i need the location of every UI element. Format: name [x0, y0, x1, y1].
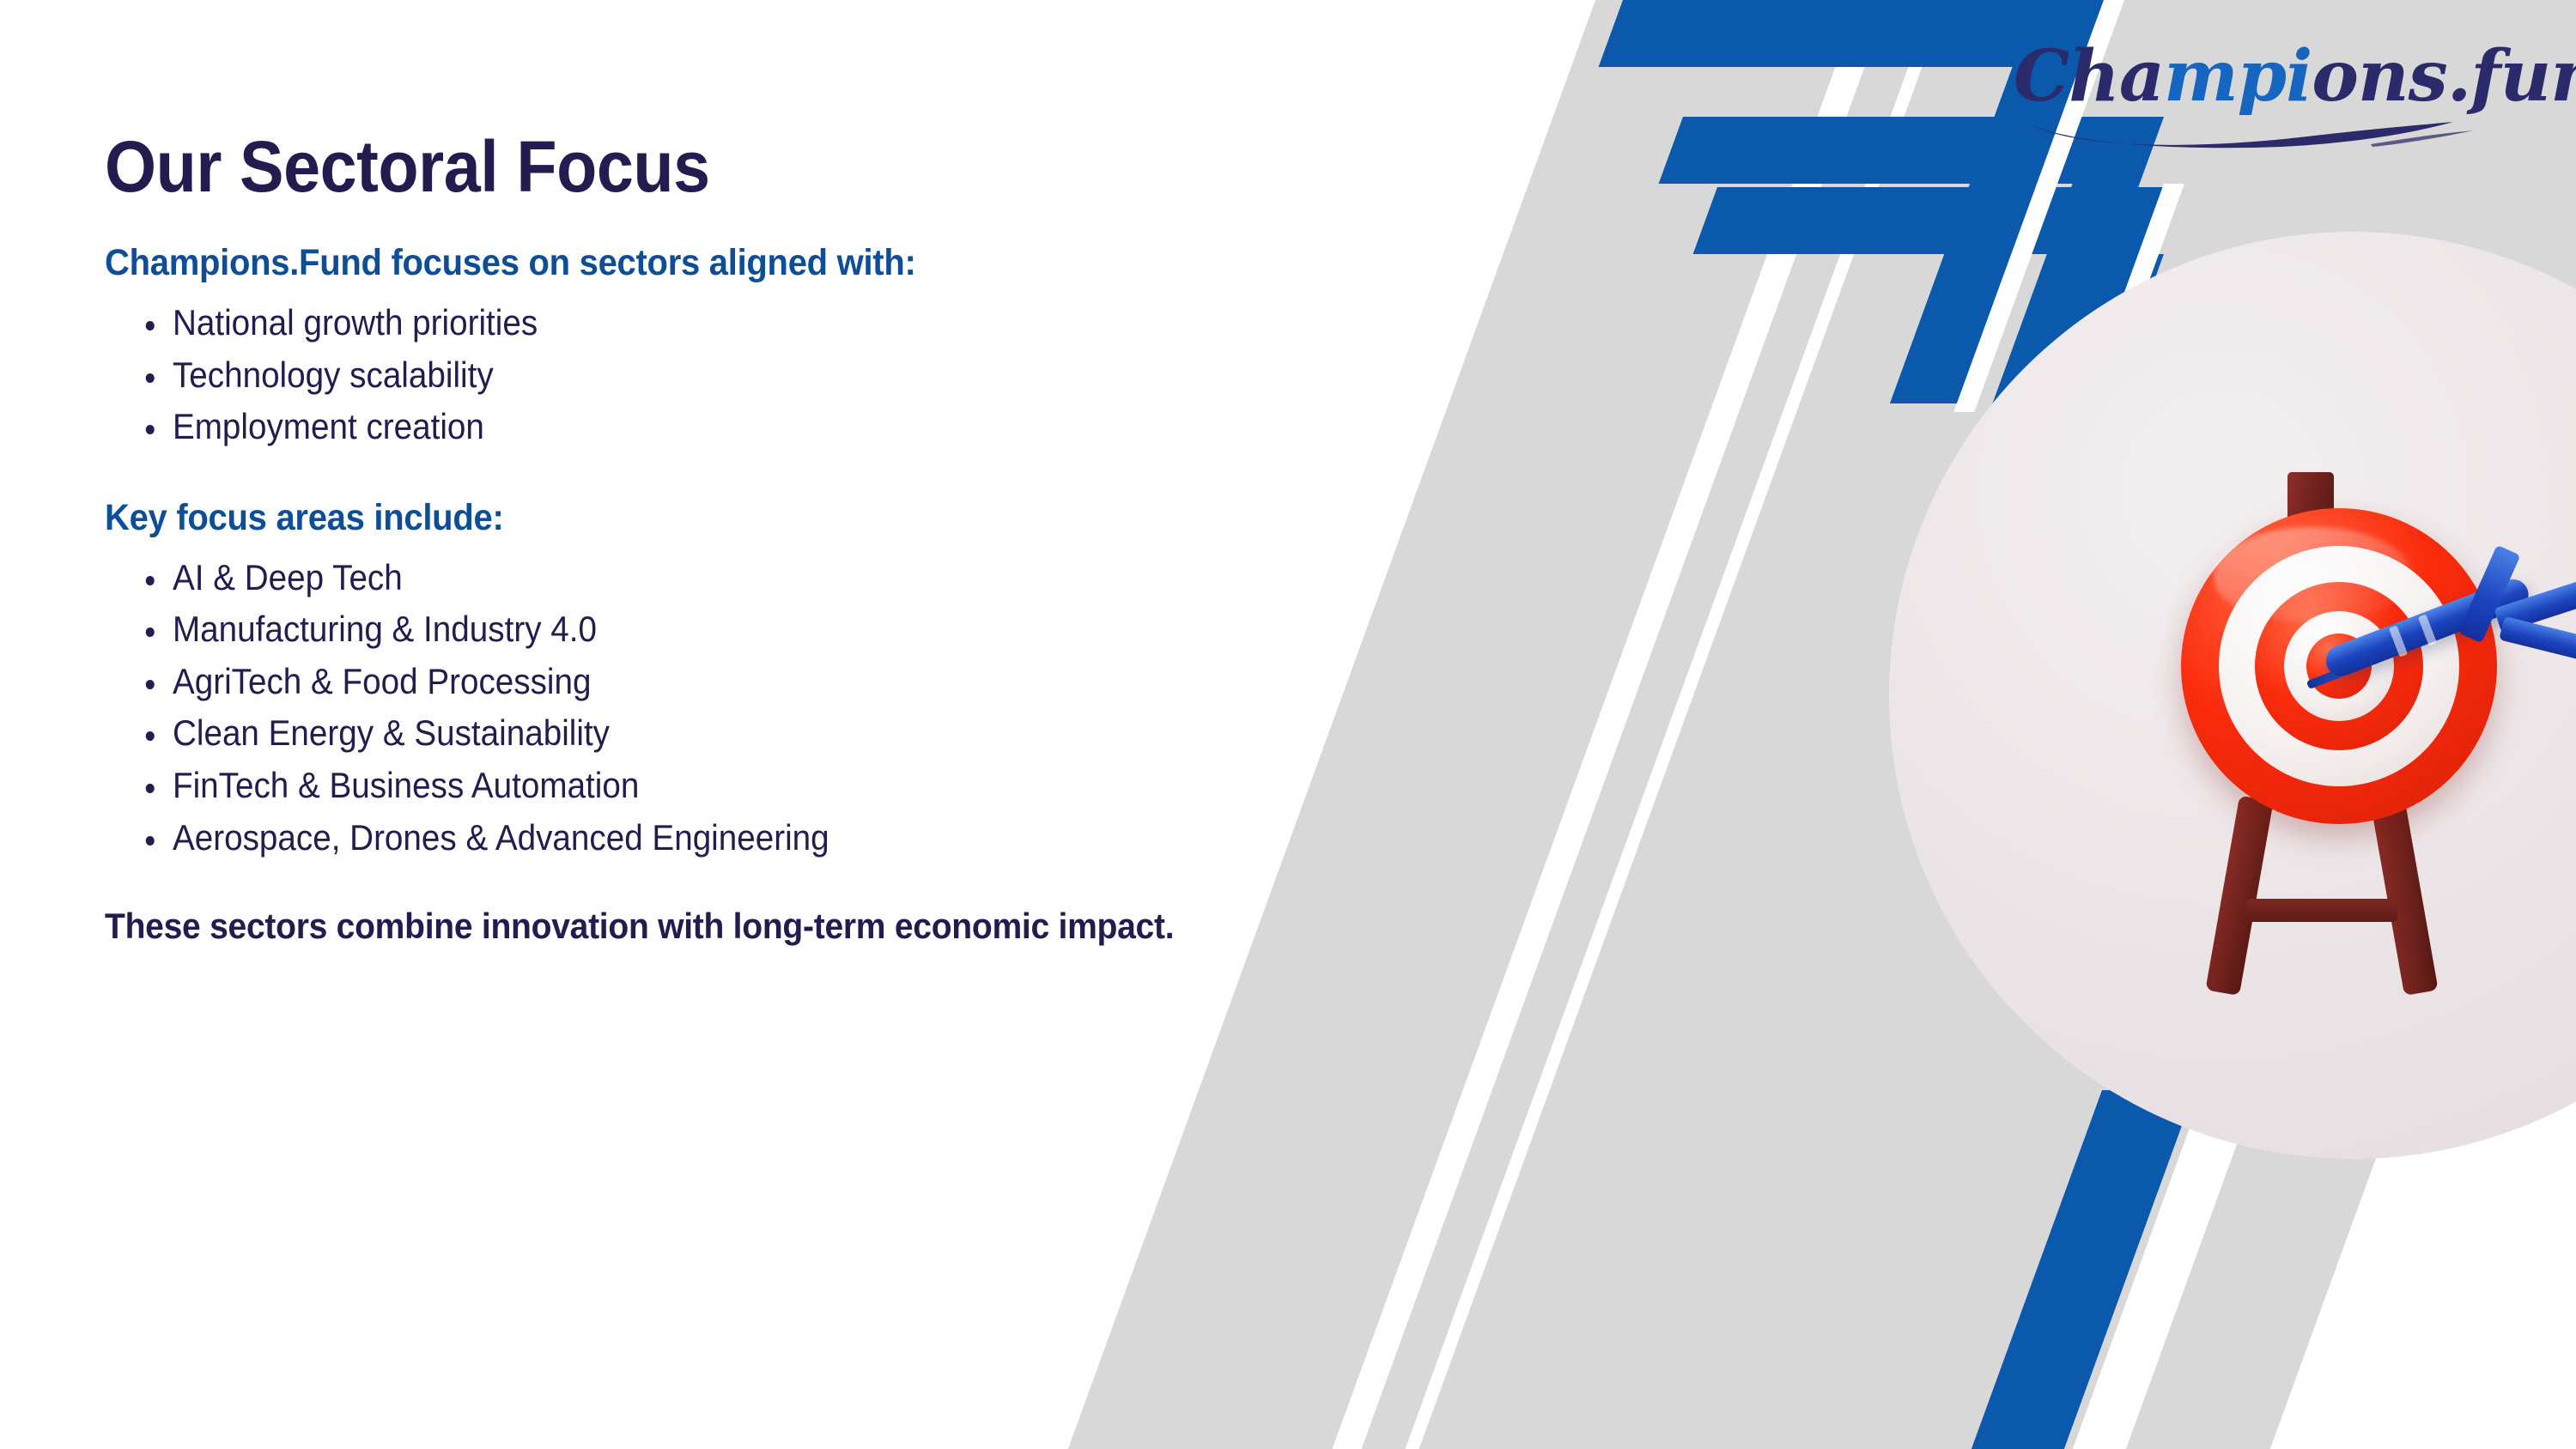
focus-bullet-list: AI & Deep Tech Manufacturing & Industry … [105, 556, 1616, 858]
bottom-diagonal-blue-bar [1959, 1090, 2195, 1449]
list-item-label: Clean Energy & Sustainability [173, 712, 610, 753]
list-item: Technology scalability [143, 354, 1498, 397]
closing-statement: These sectors combine innovation with lo… [105, 906, 1510, 947]
list-item: AgriTech & Food Processing [143, 660, 1498, 703]
target-gloss-highlight [2214, 527, 2411, 621]
list-item-label: Employment creation [173, 406, 484, 446]
list-item: National growth priorities [143, 301, 1498, 344]
list-item-label: National growth priorities [173, 302, 538, 343]
target-stand-leg-left [2205, 796, 2273, 996]
section-spacer-2 [105, 868, 1616, 906]
slide-canvas: Champions.fund Our Sectoral Focus Champi… [0, 0, 2576, 1449]
logo-wordmark: Champions.fund [2014, 41, 2529, 112]
list-item: Manufacturing & Industry 4.0 [143, 608, 1498, 651]
list-item: Aerospace, Drones & Advanced Engineering [143, 816, 1498, 859]
list-item-label: Technology scalability [173, 355, 494, 395]
logo-text-part-2: mp [2164, 35, 2286, 118]
logo-text-part-3: i [2286, 35, 2312, 118]
logo-text-part-4: ons.fund [2312, 35, 2576, 118]
focus-heading: Key focus areas include: [105, 497, 1510, 539]
slide-content: Our Sectoral Focus Champions.Fund focuse… [105, 129, 1616, 947]
list-item-label: AgriTech & Food Processing [173, 661, 592, 701]
section-spacer-1 [105, 458, 1616, 497]
champions-fund-logo[interactable]: Champions.fund [2014, 41, 2529, 149]
list-item: AI & Deep Tech [143, 556, 1498, 599]
logo-swoosh-icon [2024, 120, 2505, 149]
list-item-label: Manufacturing & Industry 4.0 [173, 609, 597, 649]
list-item-label: AI & Deep Tech [173, 557, 403, 597]
list-item: Clean Energy & Sustainability [143, 712, 1498, 755]
logo-text-part-1: Cha [2014, 35, 2164, 118]
intro-bullet-list: National growth priorities Technology sc… [105, 301, 1616, 448]
list-item: Employment creation [143, 405, 1498, 448]
intro-heading: Champions.Fund focuses on sectors aligne… [105, 242, 1510, 284]
dartboard-target-icon [2112, 464, 2559, 996]
list-item: FinTech & Business Automation [143, 764, 1498, 807]
list-item-label: Aerospace, Drones & Advanced Engineering [173, 817, 829, 858]
chevron-bar-top-3 [1693, 187, 2164, 254]
target-stand-crossbar [2246, 899, 2397, 922]
bottom-diagonal-white-bar [2060, 1090, 2257, 1449]
target-stand-leg-right [2370, 796, 2438, 996]
list-item-label: FinTech & Business Automation [173, 765, 639, 805]
page-title: Our Sectoral Focus [105, 129, 1495, 204]
